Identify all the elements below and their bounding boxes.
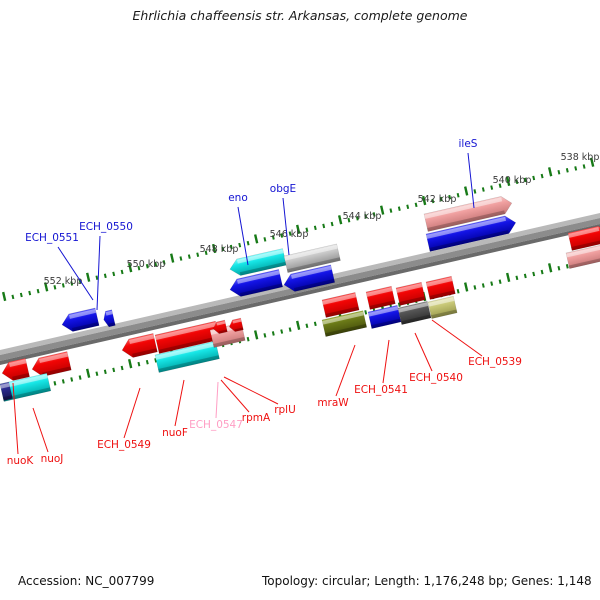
ruler-tick — [28, 291, 31, 296]
gene-label-nuoJ[interactable]: nuoJ — [41, 453, 64, 465]
ruler-tick — [524, 274, 527, 279]
ruler-tick — [506, 273, 510, 282]
ruler-tick — [79, 375, 82, 380]
ruler-tick — [557, 266, 560, 271]
ruler-tick — [406, 204, 409, 209]
leader-line-ECH_0549 — [124, 388, 140, 438]
ruler-tick — [541, 174, 544, 179]
page-title: Ehrlichia chaffeensis str. Arkansas, com… — [133, 8, 468, 23]
leader-line-ECH_0539 — [432, 320, 482, 356]
ruler-tick — [263, 237, 266, 242]
ruler-label-550kbp: 550 kbp — [127, 259, 166, 270]
ruler-tick — [11, 295, 14, 300]
ruler-tick — [170, 253, 174, 262]
ruler-label-544kbp: 544 kbp — [343, 211, 382, 222]
ruler-tick — [146, 360, 149, 365]
gene-label-mraW[interactable]: mraW — [317, 397, 349, 409]
leader-line-ECH_0541 — [383, 340, 389, 383]
gene-label-ECH_0549[interactable]: ECH_0549 — [97, 439, 151, 451]
gene-label-eno[interactable]: eno — [228, 192, 248, 204]
gene-red-0540[interactable] — [396, 282, 425, 305]
ruler-tick — [121, 270, 124, 275]
ruler-tick — [137, 362, 140, 367]
ruler-tick — [305, 324, 308, 329]
ruler-tick — [532, 272, 535, 277]
gene-red-0539-top[interactable] — [426, 276, 455, 299]
leader-line-nuoJ — [33, 408, 48, 452]
gene-label-obgE[interactable]: obgE — [270, 183, 296, 195]
leader-line-ECH_0550 — [97, 236, 100, 310]
ruler-tick — [583, 164, 586, 169]
ruler-tick — [112, 368, 115, 373]
ruler-tick — [121, 366, 124, 371]
ruler-tick — [464, 186, 468, 195]
ruler-tick — [566, 264, 569, 269]
ruler-tick — [53, 381, 56, 386]
ruler-tick — [247, 241, 250, 246]
ruler-tick — [86, 273, 90, 282]
ruler-tick — [482, 187, 485, 192]
ruler-tick — [548, 167, 552, 176]
genome-map-viewer: Ehrlichia chaffeensis str. Arkansas, com… — [0, 0, 600, 600]
ruler-tick — [254, 234, 258, 243]
ruler-tick — [322, 224, 325, 229]
leader-line-ileS — [468, 153, 474, 208]
gene-label-nuoF[interactable]: nuoF — [162, 427, 188, 439]
gene-label-ECH_0540[interactable]: ECH_0540 — [409, 372, 463, 384]
ruler-tick — [86, 369, 90, 378]
ruler-tick — [532, 176, 535, 181]
leader-line-ECH_0540 — [415, 333, 432, 371]
ruler-tick — [314, 322, 317, 327]
ruler-tick — [482, 283, 485, 288]
ruler-label-542kbp: 542 kbp — [418, 194, 457, 205]
ruler-tick — [247, 337, 250, 342]
leader-line-ECH_0547 — [216, 382, 218, 418]
gene-label-ECH_0550[interactable]: ECH_0550 — [79, 221, 133, 233]
ruler-tick — [62, 379, 65, 384]
ruler-tick — [473, 189, 476, 194]
ruler-tick — [37, 289, 40, 294]
gene-blue-left-2[interactable] — [102, 310, 115, 328]
leader-line-rpmA — [221, 380, 249, 412]
gene-label-rplU[interactable]: rplU — [274, 404, 296, 416]
ruler-tick — [263, 333, 266, 338]
gene-red-0549[interactable] — [120, 333, 157, 359]
ruler-tick — [398, 206, 401, 211]
gene-label-rpmA[interactable]: rpmA — [242, 412, 271, 424]
leader-line-nuoF — [175, 380, 184, 426]
ruler-tick — [499, 279, 502, 284]
ruler-tick — [331, 222, 334, 227]
ruler-label-538kbp: 538 kbp — [561, 152, 600, 163]
gene-label-ECH_0539[interactable]: ECH_0539 — [468, 356, 522, 368]
ruler-tick — [20, 293, 23, 298]
ruler-tick — [464, 282, 468, 291]
leader-line-eno — [238, 207, 248, 265]
ruler-tick — [541, 270, 544, 275]
gene-label-ECH_0551[interactable]: ECH_0551 — [25, 232, 79, 244]
gene-label-ECH_0541[interactable]: ECH_0541 — [354, 384, 408, 396]
leader-line-rplU — [224, 377, 278, 404]
ruler-tick — [364, 310, 367, 315]
ruler-tick — [490, 281, 493, 286]
accession-label: Accession: NC_007799 — [18, 574, 154, 588]
leader-line-obgE — [283, 198, 289, 255]
genome-summary-label: Topology: circular; Length: 1,176,248 bp… — [261, 574, 592, 588]
genome-map-canvas[interactable]: Ehrlichia chaffeensis str. Arkansas, com… — [0, 0, 600, 600]
ruler-tick — [457, 289, 460, 294]
ruler-tick — [280, 329, 283, 334]
ruler-tick — [296, 321, 300, 330]
ruler-tick — [179, 256, 182, 261]
ruler-tick — [574, 166, 577, 171]
ruler-tick — [70, 377, 73, 382]
ruler-label-552kbp: 552 kbp — [44, 276, 83, 287]
ruler-tick — [389, 208, 392, 213]
ruler-tick — [457, 193, 460, 198]
ruler-tick — [104, 370, 107, 375]
leader-line-mraW — [336, 345, 355, 396]
ruler-tick — [566, 168, 569, 173]
ruler-tick — [548, 263, 552, 272]
ruler-tick — [2, 292, 6, 301]
ruler-label-548kbp: 548 kbp — [200, 244, 239, 255]
ruler-tick — [238, 243, 241, 248]
ruler-tick — [104, 274, 107, 279]
ruler-tick — [254, 330, 258, 339]
ruler-label-546kbp: 546 kbp — [270, 229, 309, 240]
ruler-tick — [128, 359, 132, 368]
ruler-tick — [557, 170, 560, 175]
gene-label-nuoK[interactable]: nuoK — [7, 455, 35, 467]
ruler-tick — [95, 371, 98, 376]
ruler-tick — [314, 226, 317, 231]
ruler-tick — [112, 272, 115, 277]
ruler-tick — [473, 285, 476, 290]
ruler-tick — [188, 254, 191, 259]
ruler-tick — [272, 331, 275, 336]
gene-label-ileS[interactable]: ileS — [459, 138, 478, 150]
ruler-tick — [490, 185, 493, 190]
ruler-label-540kbp: 540 kbp — [493, 175, 532, 186]
gene-gray-obge[interactable] — [284, 244, 340, 273]
ruler-tick — [289, 327, 292, 332]
ruler-tick — [515, 276, 518, 281]
gene-label-ECH_0547[interactable]: ECH_0547 — [189, 419, 243, 431]
gene-khaki-0539[interactable] — [428, 296, 457, 318]
